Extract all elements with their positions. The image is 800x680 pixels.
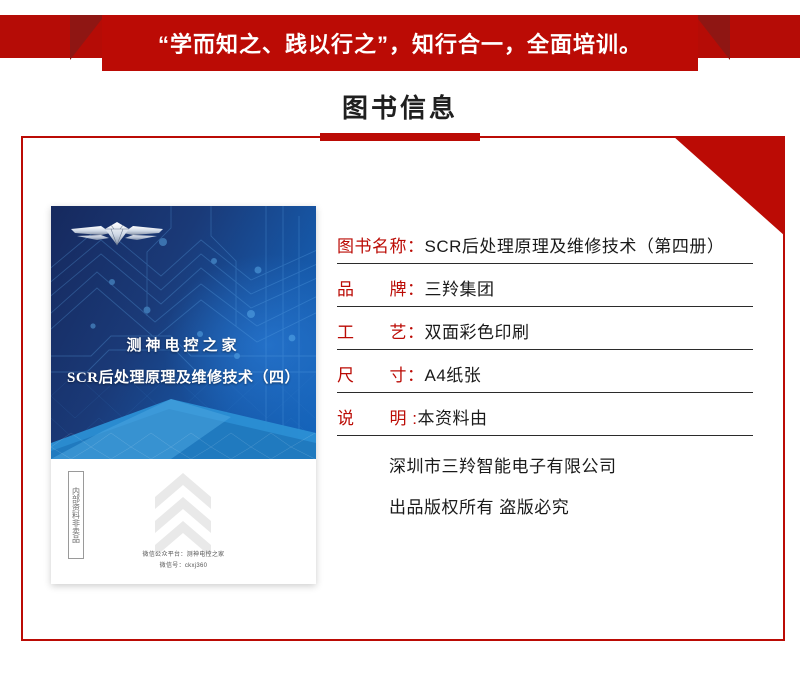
page-title: 图书信息 [0,88,800,125]
info-label-craft: 工 艺： [337,318,425,343]
banner-fold-right [695,15,730,60]
info-value-craft: 双面彩色印刷 [425,318,530,343]
top-banner: “学而知之、践以行之”，知行合一，全面培训。 [0,0,800,72]
content-frame: 测神电控之家 SCR后处理原理及维修技术（四） 内部资料非卖品 [21,136,785,641]
publisher-company-name: 深圳市三羚智能电子有限公司 [337,452,753,477]
info-label-brand: 品 牌： [337,275,425,300]
info-value-size: A4纸张 [425,361,482,386]
chevron-up-icon [153,471,213,556]
banner-fold-left [70,15,105,60]
book-info-panel: 图书名称： SCR后处理原理及维修技术（第四册） 品 牌： 三羚集团 工 艺： … [337,232,753,518]
info-value-description: 本资料由 [417,404,487,429]
cover-title-line1: 测神电控之家 [51,334,316,355]
title-underline-accent [320,133,480,141]
cover-footer-line1: 微信公众平台：测神电控之家 [51,550,316,561]
info-row-brand: 品 牌： 三羚集团 [337,275,753,307]
info-row-book-name: 图书名称： SCR后处理原理及维修技术（第四册） [337,232,753,264]
book-cover-bottom-panel: 内部资料非卖品 微信公众平台：测神电控之家 微信号：ckxj360 [51,459,316,584]
internal-material-stamp: 内部资料非卖品 [68,471,84,559]
cover-title-line2: SCR后处理原理及维修技术（四） [51,366,316,387]
info-row-craft: 工 艺： 双面彩色印刷 [337,318,753,350]
info-label-description: 说 明 : [337,404,417,429]
cover-mountain-decoration [51,387,316,459]
info-value-book-name: SCR后处理原理及维修技术（第四册） [425,232,725,257]
winged-diamond-logo-icon [67,216,167,250]
info-label-book-name: 图书名称： [337,232,425,257]
info-label-size: 尺 寸： [337,361,425,386]
copyright-notice: 出品版权所有 盗版必究 [337,493,753,518]
info-row-size: 尺 寸： A4纸张 [337,361,753,393]
book-cover-top-panel: 测神电控之家 SCR后处理原理及维修技术（四） [51,206,316,459]
banner-main: “学而知之、践以行之”，知行合一，全面培训。 [102,15,698,71]
banner-slogan: “学而知之、践以行之”，知行合一，全面培训。 [158,27,642,59]
cover-footer-text: 微信公众平台：测神电控之家 微信号：ckxj360 [51,550,316,572]
book-cover-image: 测神电控之家 SCR后处理原理及维修技术（四） 内部资料非卖品 [51,206,316,584]
corner-triangle-decoration [673,136,785,236]
info-row-description: 说 明 : 本资料由 [337,404,753,436]
info-value-brand: 三羚集团 [425,275,495,300]
cover-footer-line2: 微信号：ckxj360 [51,561,316,572]
